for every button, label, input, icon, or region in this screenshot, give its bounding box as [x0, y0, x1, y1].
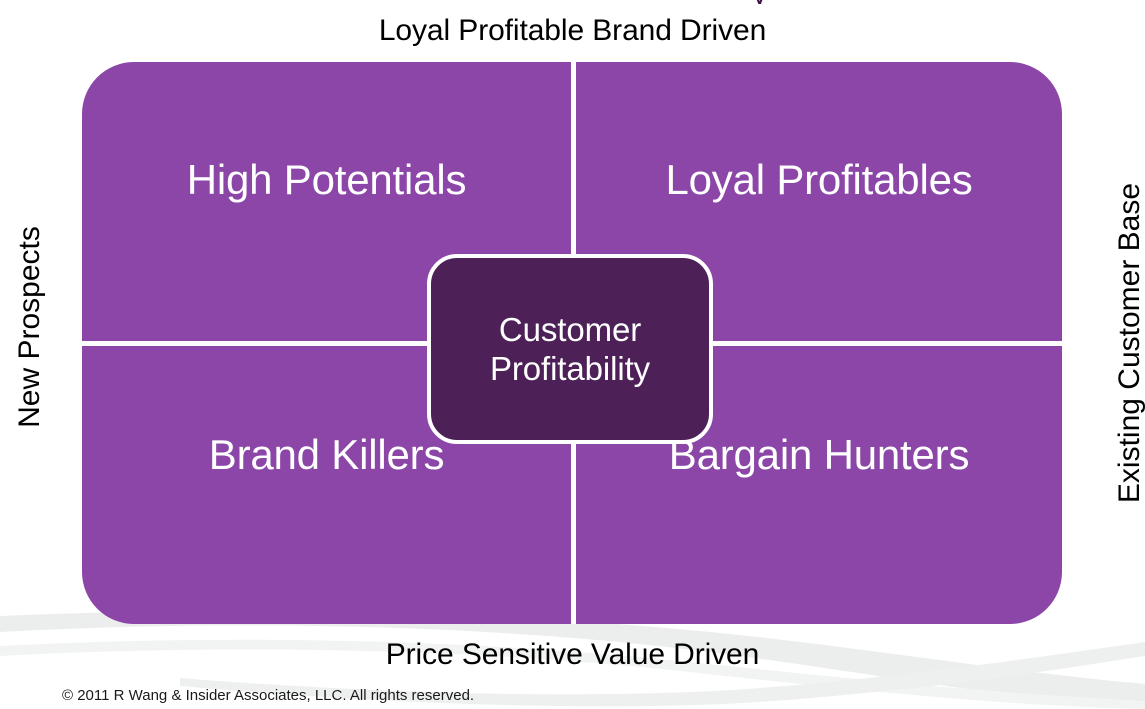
- center-callout-line-1: Customer: [490, 310, 650, 349]
- center-callout-customer-profitability[interactable]: Customer Profitability: [427, 254, 713, 444]
- axis-label-right: Existing Customer Base: [1113, 173, 1145, 513]
- quadrant-label: High Potentials: [187, 156, 467, 204]
- quadrant-label: Brand Killers: [209, 431, 445, 479]
- axis-label-left: New Prospects: [13, 217, 47, 437]
- copyright-notice: © 2011 R Wang & Insider Associates, LLC.…: [62, 686, 474, 705]
- center-callout-text: Customer Profitability: [490, 310, 650, 388]
- axis-label-bottom: Price Sensitive Value Driven: [0, 637, 1145, 673]
- quadrant-label: Loyal Profitables: [665, 156, 972, 204]
- center-callout-line-2: Profitability: [490, 349, 650, 388]
- axis-label-top: Loyal Profitable Brand Driven: [0, 13, 1145, 49]
- slide-title-fragment: y: [752, 0, 768, 4]
- quadrant-label: Bargain Hunters: [669, 431, 970, 479]
